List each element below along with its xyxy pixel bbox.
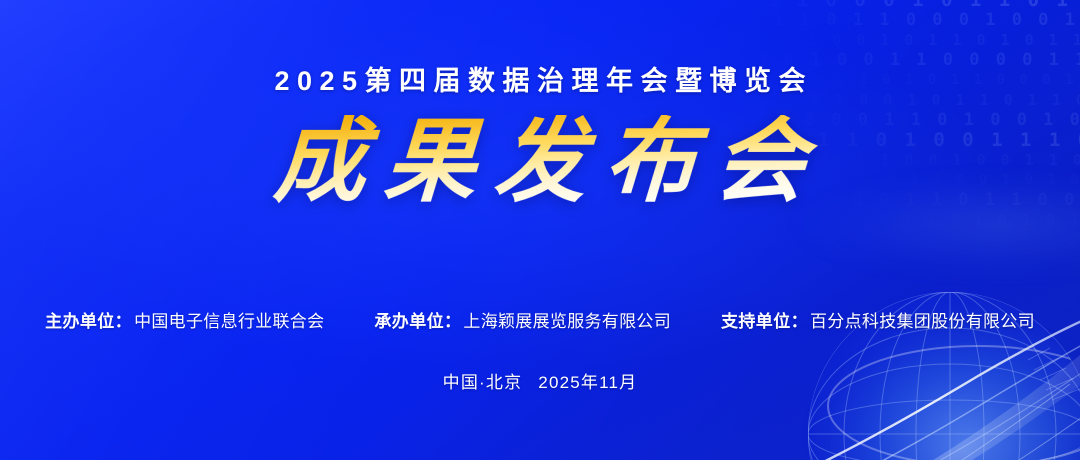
organizer-item: 承办单位：上海颖展展览服务有限公司 bbox=[374, 313, 671, 330]
conference-banner: 1 0 1 1 0 0 0 1 0 1 1 0 1 0 0 10 1 1 0 1… bbox=[0, 0, 1080, 460]
venue-location: 中国·北京 bbox=[443, 373, 523, 392]
organizer-list: 主办单位：中国电子信息行业联合会承办单位：上海颖展展览服务有限公司支持单位：百分… bbox=[0, 313, 1080, 330]
venue-line: 中国·北京2025年11月 bbox=[0, 368, 1080, 393]
organizer-label: 支持单位： bbox=[721, 312, 808, 331]
venue-date: 2025年11月 bbox=[538, 373, 637, 392]
event-title: 2025第四届数据治理年会暨博览会 bbox=[267, 68, 813, 95]
organizer-value: 上海颖展展览服务有限公司 bbox=[463, 312, 671, 331]
organizer-label: 主办单位： bbox=[45, 312, 132, 331]
organizer-value: 百分点科技集团股份有限公司 bbox=[810, 312, 1035, 331]
organizer-label: 承办单位： bbox=[374, 312, 461, 331]
organizer-item: 主办单位：中国电子信息行业联合会 bbox=[45, 313, 324, 330]
headline-title: 成果发布会 bbox=[254, 115, 827, 209]
organizer-value: 中国电子信息行业联合会 bbox=[134, 312, 324, 331]
organizer-item: 支持单位：百分点科技集团股份有限公司 bbox=[721, 313, 1035, 330]
